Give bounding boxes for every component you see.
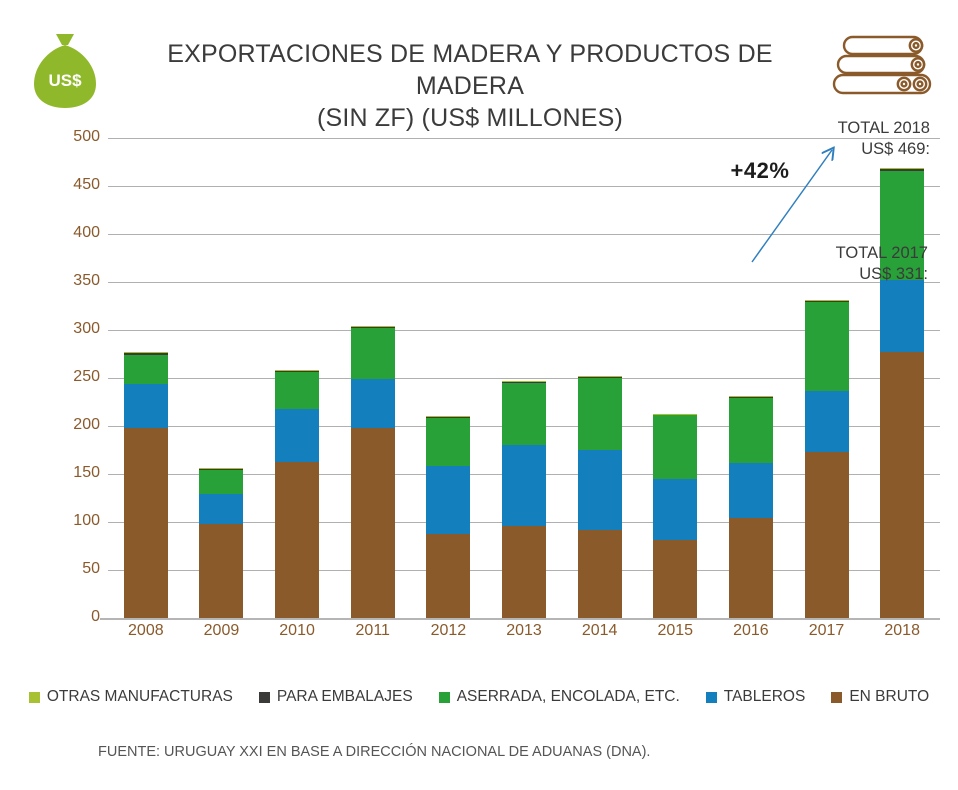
x-tick-2014: 2014 xyxy=(562,622,638,640)
chart-page: US$ EXPORTACIONES DE MADERA Y PRODUCTOS … xyxy=(0,0,958,790)
y-tick-350: 350 xyxy=(48,272,100,290)
bar-segment xyxy=(578,530,622,618)
bar-segment xyxy=(805,391,849,451)
chart-legend: OTRAS MANUFACTURASPARA EMBALAJESASERRADA… xyxy=(0,688,958,706)
bar-segment xyxy=(805,452,849,618)
x-tick-2018: 2018 xyxy=(864,622,940,640)
bar-2008[interactable] xyxy=(124,352,168,618)
bar-2015[interactable] xyxy=(653,414,697,618)
y-axis-labels: 0 50 100 150 200 250 300 350 400 450 500 xyxy=(44,138,100,618)
bar-segment xyxy=(124,384,168,428)
bar-segment xyxy=(578,450,622,530)
bar-segment xyxy=(275,372,319,408)
svg-text:US$: US$ xyxy=(48,71,82,90)
title-line-2: (SIN ZF) (US$ MILLONES) xyxy=(150,102,790,134)
x-tick-2016: 2016 xyxy=(713,622,789,640)
x-tick-2013: 2013 xyxy=(486,622,562,640)
legend-swatch xyxy=(706,692,717,703)
bar-segment xyxy=(729,463,773,519)
title-line-1: EXPORTACIONES DE MADERA Y PRODUCTOS DE M… xyxy=(167,40,772,100)
bar-segment xyxy=(124,355,168,384)
x-axis-line xyxy=(100,618,940,620)
bar-segment xyxy=(502,526,546,618)
y-tick-300: 300 xyxy=(48,320,100,338)
bar-segment xyxy=(502,445,546,526)
bar-2010[interactable] xyxy=(275,370,319,618)
legend-item[interactable]: PARA EMBALAJES xyxy=(259,688,413,706)
y-tick-150: 150 xyxy=(48,464,100,482)
y-tick-0: 0 xyxy=(48,608,100,626)
bar-2013[interactable] xyxy=(502,381,546,618)
bar-segment xyxy=(199,494,243,524)
annotation-total-2018-line1: TOTAL 2018 xyxy=(700,118,930,139)
bar-segment xyxy=(426,466,470,533)
bar-2014[interactable] xyxy=(578,376,622,618)
money-bag-icon: US$ xyxy=(26,28,104,110)
legend-item[interactable]: EN BRUTO xyxy=(831,688,929,706)
legend-label: TABLEROS xyxy=(724,688,806,706)
bar-segment xyxy=(275,409,319,463)
bar-segment xyxy=(124,428,168,618)
legend-label: PARA EMBALAJES xyxy=(277,688,413,706)
bar-segment xyxy=(351,379,395,428)
x-axis-labels: 2008200920102011201220132014201520162017… xyxy=(108,622,940,652)
bar-segment xyxy=(729,518,773,618)
annotation-total-2017-line1: TOTAL 2017 xyxy=(660,243,928,264)
bar-segment xyxy=(426,418,470,466)
bar-segment xyxy=(275,462,319,618)
bar-2016[interactable] xyxy=(729,396,773,618)
legend-label: ASERRADA, ENCOLADA, ETC. xyxy=(457,688,680,706)
y-tick-50: 50 xyxy=(48,560,100,578)
bar-2018[interactable] xyxy=(880,168,924,618)
annotation-total-2017: TOTAL 2017 US$ 331: xyxy=(660,243,928,284)
bar-segment xyxy=(805,302,849,391)
bar-2017[interactable] xyxy=(805,300,849,618)
legend-swatch xyxy=(29,692,40,703)
y-tick-500: 500 xyxy=(48,128,100,146)
bar-segment xyxy=(653,415,697,478)
page-title: EXPORTACIONES DE MADERA Y PRODUCTOS DE M… xyxy=(150,38,790,134)
bar-segment xyxy=(880,280,924,352)
x-tick-2015: 2015 xyxy=(637,622,713,640)
bar-segment xyxy=(729,398,773,462)
y-tick-450: 450 xyxy=(48,176,100,194)
legend-item[interactable]: ASERRADA, ENCOLADA, ETC. xyxy=(439,688,680,706)
x-tick-2011: 2011 xyxy=(335,622,411,640)
stacked-logs-icon xyxy=(830,32,938,102)
x-tick-2009: 2009 xyxy=(183,622,259,640)
bar-segment xyxy=(578,378,622,450)
x-tick-2010: 2010 xyxy=(259,622,335,640)
bar-segment xyxy=(199,470,243,494)
legend-swatch xyxy=(259,692,270,703)
bar-segment xyxy=(351,328,395,379)
legend-item[interactable]: OTRAS MANUFACTURAS xyxy=(29,688,233,706)
legend-label: EN BRUTO xyxy=(849,688,929,706)
y-tick-100: 100 xyxy=(48,512,100,530)
bar-2012[interactable] xyxy=(426,416,470,618)
legend-swatch xyxy=(831,692,842,703)
annotation-total-2017-line2: US$ 331: xyxy=(660,264,928,285)
y-tick-250: 250 xyxy=(48,368,100,386)
x-tick-2008: 2008 xyxy=(108,622,184,640)
source-note: FUENTE: URUGUAY XXI EN BASE A DIRECCIÓN … xyxy=(98,744,650,760)
x-tick-2012: 2012 xyxy=(410,622,486,640)
y-tick-400: 400 xyxy=(48,224,100,242)
bar-segment xyxy=(880,352,924,618)
x-tick-2017: 2017 xyxy=(789,622,865,640)
bar-segment xyxy=(426,534,470,618)
bar-segment xyxy=(653,479,697,540)
bar-segment xyxy=(502,383,546,445)
bar-2009[interactable] xyxy=(199,468,243,618)
bar-2011[interactable] xyxy=(351,326,395,618)
legend-item[interactable]: TABLEROS xyxy=(706,688,806,706)
bar-segment xyxy=(199,524,243,618)
bar-segment xyxy=(351,428,395,618)
bar-segment xyxy=(653,540,697,618)
legend-swatch xyxy=(439,692,450,703)
y-tick-200: 200 xyxy=(48,416,100,434)
legend-label: OTRAS MANUFACTURAS xyxy=(47,688,233,706)
